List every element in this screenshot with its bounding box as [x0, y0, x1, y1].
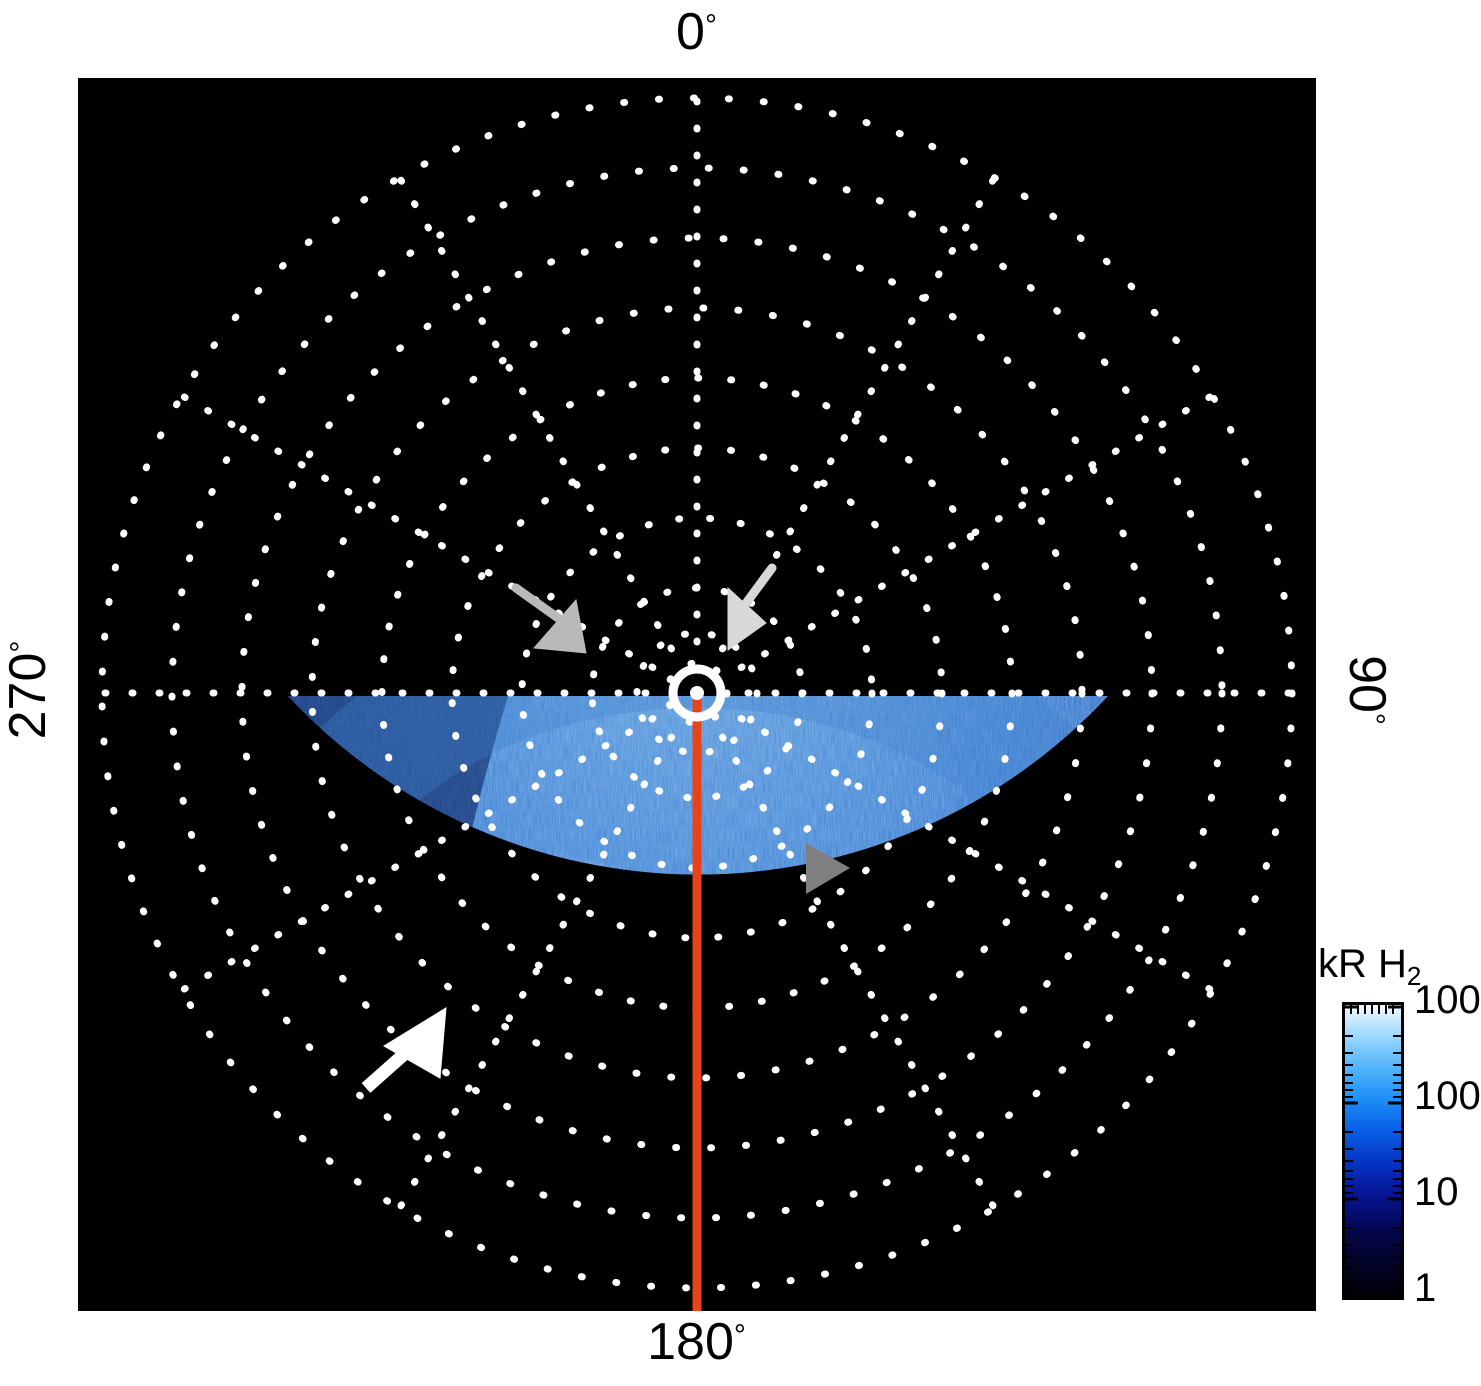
- colorbar-tick-label-1: 1: [1414, 1268, 1436, 1308]
- colorbar-tick-label-10: 10: [1414, 1172, 1459, 1212]
- degree-symbol-right: °: [1357, 713, 1390, 725]
- polar-plot-area: [78, 78, 1316, 1311]
- colorbar-ticks: [1345, 1005, 1401, 1297]
- degree-symbol-top: °: [705, 9, 717, 42]
- white-arrow-lower-left-icon: [366, 1008, 446, 1088]
- axis-label-left-value: 270: [0, 653, 57, 740]
- colorbar-gradient: [1342, 1002, 1404, 1300]
- colorbar-tick-label-100: 100: [1414, 1076, 1481, 1116]
- axis-label-bottom: 180°: [0, 1316, 1393, 1368]
- colorbar-title-main: kR H: [1318, 942, 1407, 986]
- axis-label-bottom-value: 180: [647, 1313, 734, 1371]
- colorbar: kR H2: [1318, 944, 1481, 1316]
- axis-label-left: 270°: [2, 600, 54, 780]
- degree-symbol-bottom: °: [734, 1319, 746, 1352]
- degree-symbol-left: °: [5, 641, 38, 653]
- axis-label-right: 90°: [1341, 600, 1393, 780]
- axis-label-right-value: 90: [1338, 655, 1396, 713]
- polar-plot-svg: [78, 78, 1316, 1311]
- axis-label-top: 0°: [0, 6, 1393, 58]
- colorbar-title: kR H2: [1318, 944, 1421, 989]
- axis-label-top-value: 0: [676, 3, 705, 61]
- gray-arrow-right-icon: [728, 568, 772, 650]
- aurora-polar-figure: 0° 180° 270° 90°: [0, 0, 1481, 1386]
- colorbar-tick-label-1000: 1000: [1414, 980, 1481, 1020]
